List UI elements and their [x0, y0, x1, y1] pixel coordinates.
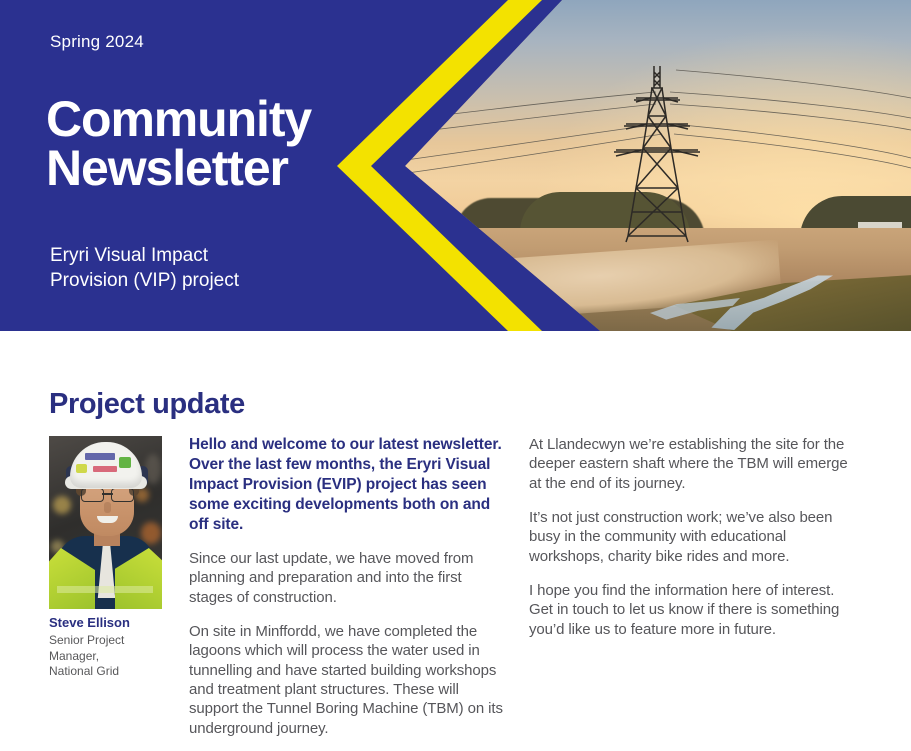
portrait-bokeh: [53, 496, 71, 514]
article-paragraph: It’s not just construction work; we’ve a…: [529, 508, 851, 566]
masthead-title: Community Newsletter: [46, 95, 311, 193]
masthead-line-1: Community: [46, 91, 311, 147]
national-grid-logo: [85, 453, 115, 460]
article-paragraph: On site in Minffordd, we have completed …: [189, 622, 505, 738]
helmet-badge-yellow: [76, 464, 87, 473]
article-column-right: At Llandecwyn we’re establishing the sit…: [529, 435, 851, 639]
article-paragraph: At Llandecwyn we’re establishing the sit…: [529, 435, 851, 493]
helmet-badge-red: [93, 466, 117, 472]
issue-date: Spring 2024: [50, 32, 144, 52]
glasses-icon: [81, 488, 134, 500]
portrait-hiviz-band: [57, 586, 153, 593]
caption-name: Steve Ellison: [49, 614, 174, 632]
newsletter-header-banner: Spring 2024 Community Newsletter Eryri V…: [0, 0, 911, 331]
page-title: Project update: [49, 388, 245, 421]
caption-role-line-3: National Grid: [49, 664, 174, 680]
project-subtitle: Eryri Visual Impact Provision (VIP) proj…: [50, 243, 239, 293]
photo-electricity-pylon: [596, 64, 716, 244]
portrait-caption: Steve Ellison Senior Project Manager, Na…: [49, 614, 174, 680]
caption-role-line-2: Manager,: [49, 649, 174, 665]
article-lede: Hello and welcome to our latest newslett…: [189, 435, 505, 535]
article-paragraph: Since our last update, we have moved fro…: [189, 549, 505, 607]
helmet-badge-green: [119, 457, 131, 468]
article-column-left: Hello and welcome to our latest newslett…: [189, 435, 505, 738]
portrait-bokeh: [141, 522, 161, 544]
portrait-photo-steve-ellison: [49, 436, 162, 609]
project-subtitle-line-2: Provision (VIP) project: [50, 268, 239, 293]
caption-role-line-1: Senior Project: [49, 633, 174, 649]
project-subtitle-line-1: Eryri Visual Impact: [50, 243, 239, 268]
caption-role: Senior Project Manager, National Grid: [49, 633, 174, 681]
portrait-nose: [104, 502, 111, 513]
masthead-line-2: Newsletter: [46, 144, 311, 193]
article-paragraph: I hope you find the information here of …: [529, 581, 851, 639]
